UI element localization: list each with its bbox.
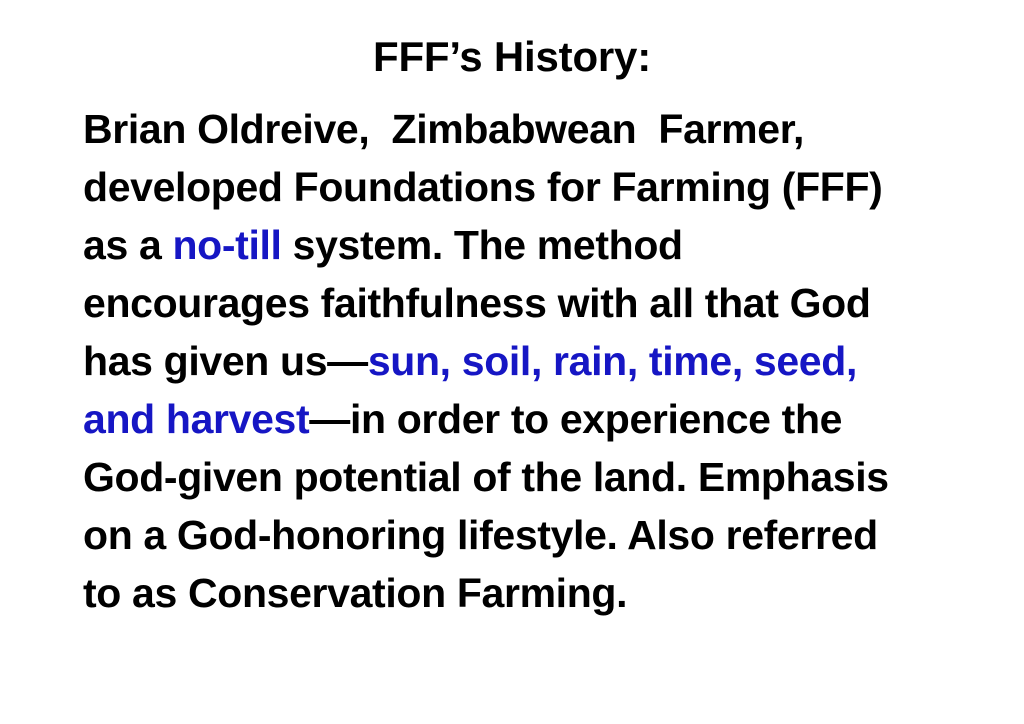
body-line: God-given potential of the land. Emphasi… <box>83 448 963 506</box>
text-segment: —in order to experience the <box>309 396 842 442</box>
body-line: on a God-honoring lifestyle. Also referr… <box>83 506 963 564</box>
body-line: encourages faithfulness with all that Go… <box>83 274 963 332</box>
body-line: to as Conservation Farming. <box>83 564 963 622</box>
text-segment: Brian Oldreive, Zimbabwean Farmer, <box>83 106 804 152</box>
body-line: developed Foundations for Farming (FFF) <box>83 158 963 216</box>
body-line: and harvest—in order to experience the <box>83 390 963 448</box>
slide-body-text: Brian Oldreive, Zimbabwean Farmer,develo… <box>83 100 963 622</box>
highlighted-text-segment: sun, soil, rain, time, seed, <box>368 338 857 384</box>
body-line: Brian Oldreive, Zimbabwean Farmer, <box>83 100 963 158</box>
text-segment: developed Foundations for Farming (FFF) <box>83 164 882 210</box>
text-segment: on a God-honoring lifestyle. Also referr… <box>83 512 878 558</box>
text-segment: has given us— <box>83 338 368 384</box>
text-segment: encourages faithfulness with all that Go… <box>83 280 871 326</box>
page-title: FFF’s History: <box>0 36 1024 78</box>
body-line: as a no-till system. The method <box>83 216 963 274</box>
highlighted-text-segment: no-till <box>172 222 281 268</box>
text-segment: God-given potential of the land. Emphasi… <box>83 454 889 500</box>
text-segment: as a <box>83 222 172 268</box>
highlighted-text-segment: and harvest <box>83 396 309 442</box>
body-line: has given us—sun, soil, rain, time, seed… <box>83 332 963 390</box>
text-segment: to as Conservation Farming. <box>83 570 627 616</box>
text-segment: system. The method <box>282 222 683 268</box>
slide-canvas: FFF’s History: Brian Oldreive, Zimbabwea… <box>0 0 1024 724</box>
